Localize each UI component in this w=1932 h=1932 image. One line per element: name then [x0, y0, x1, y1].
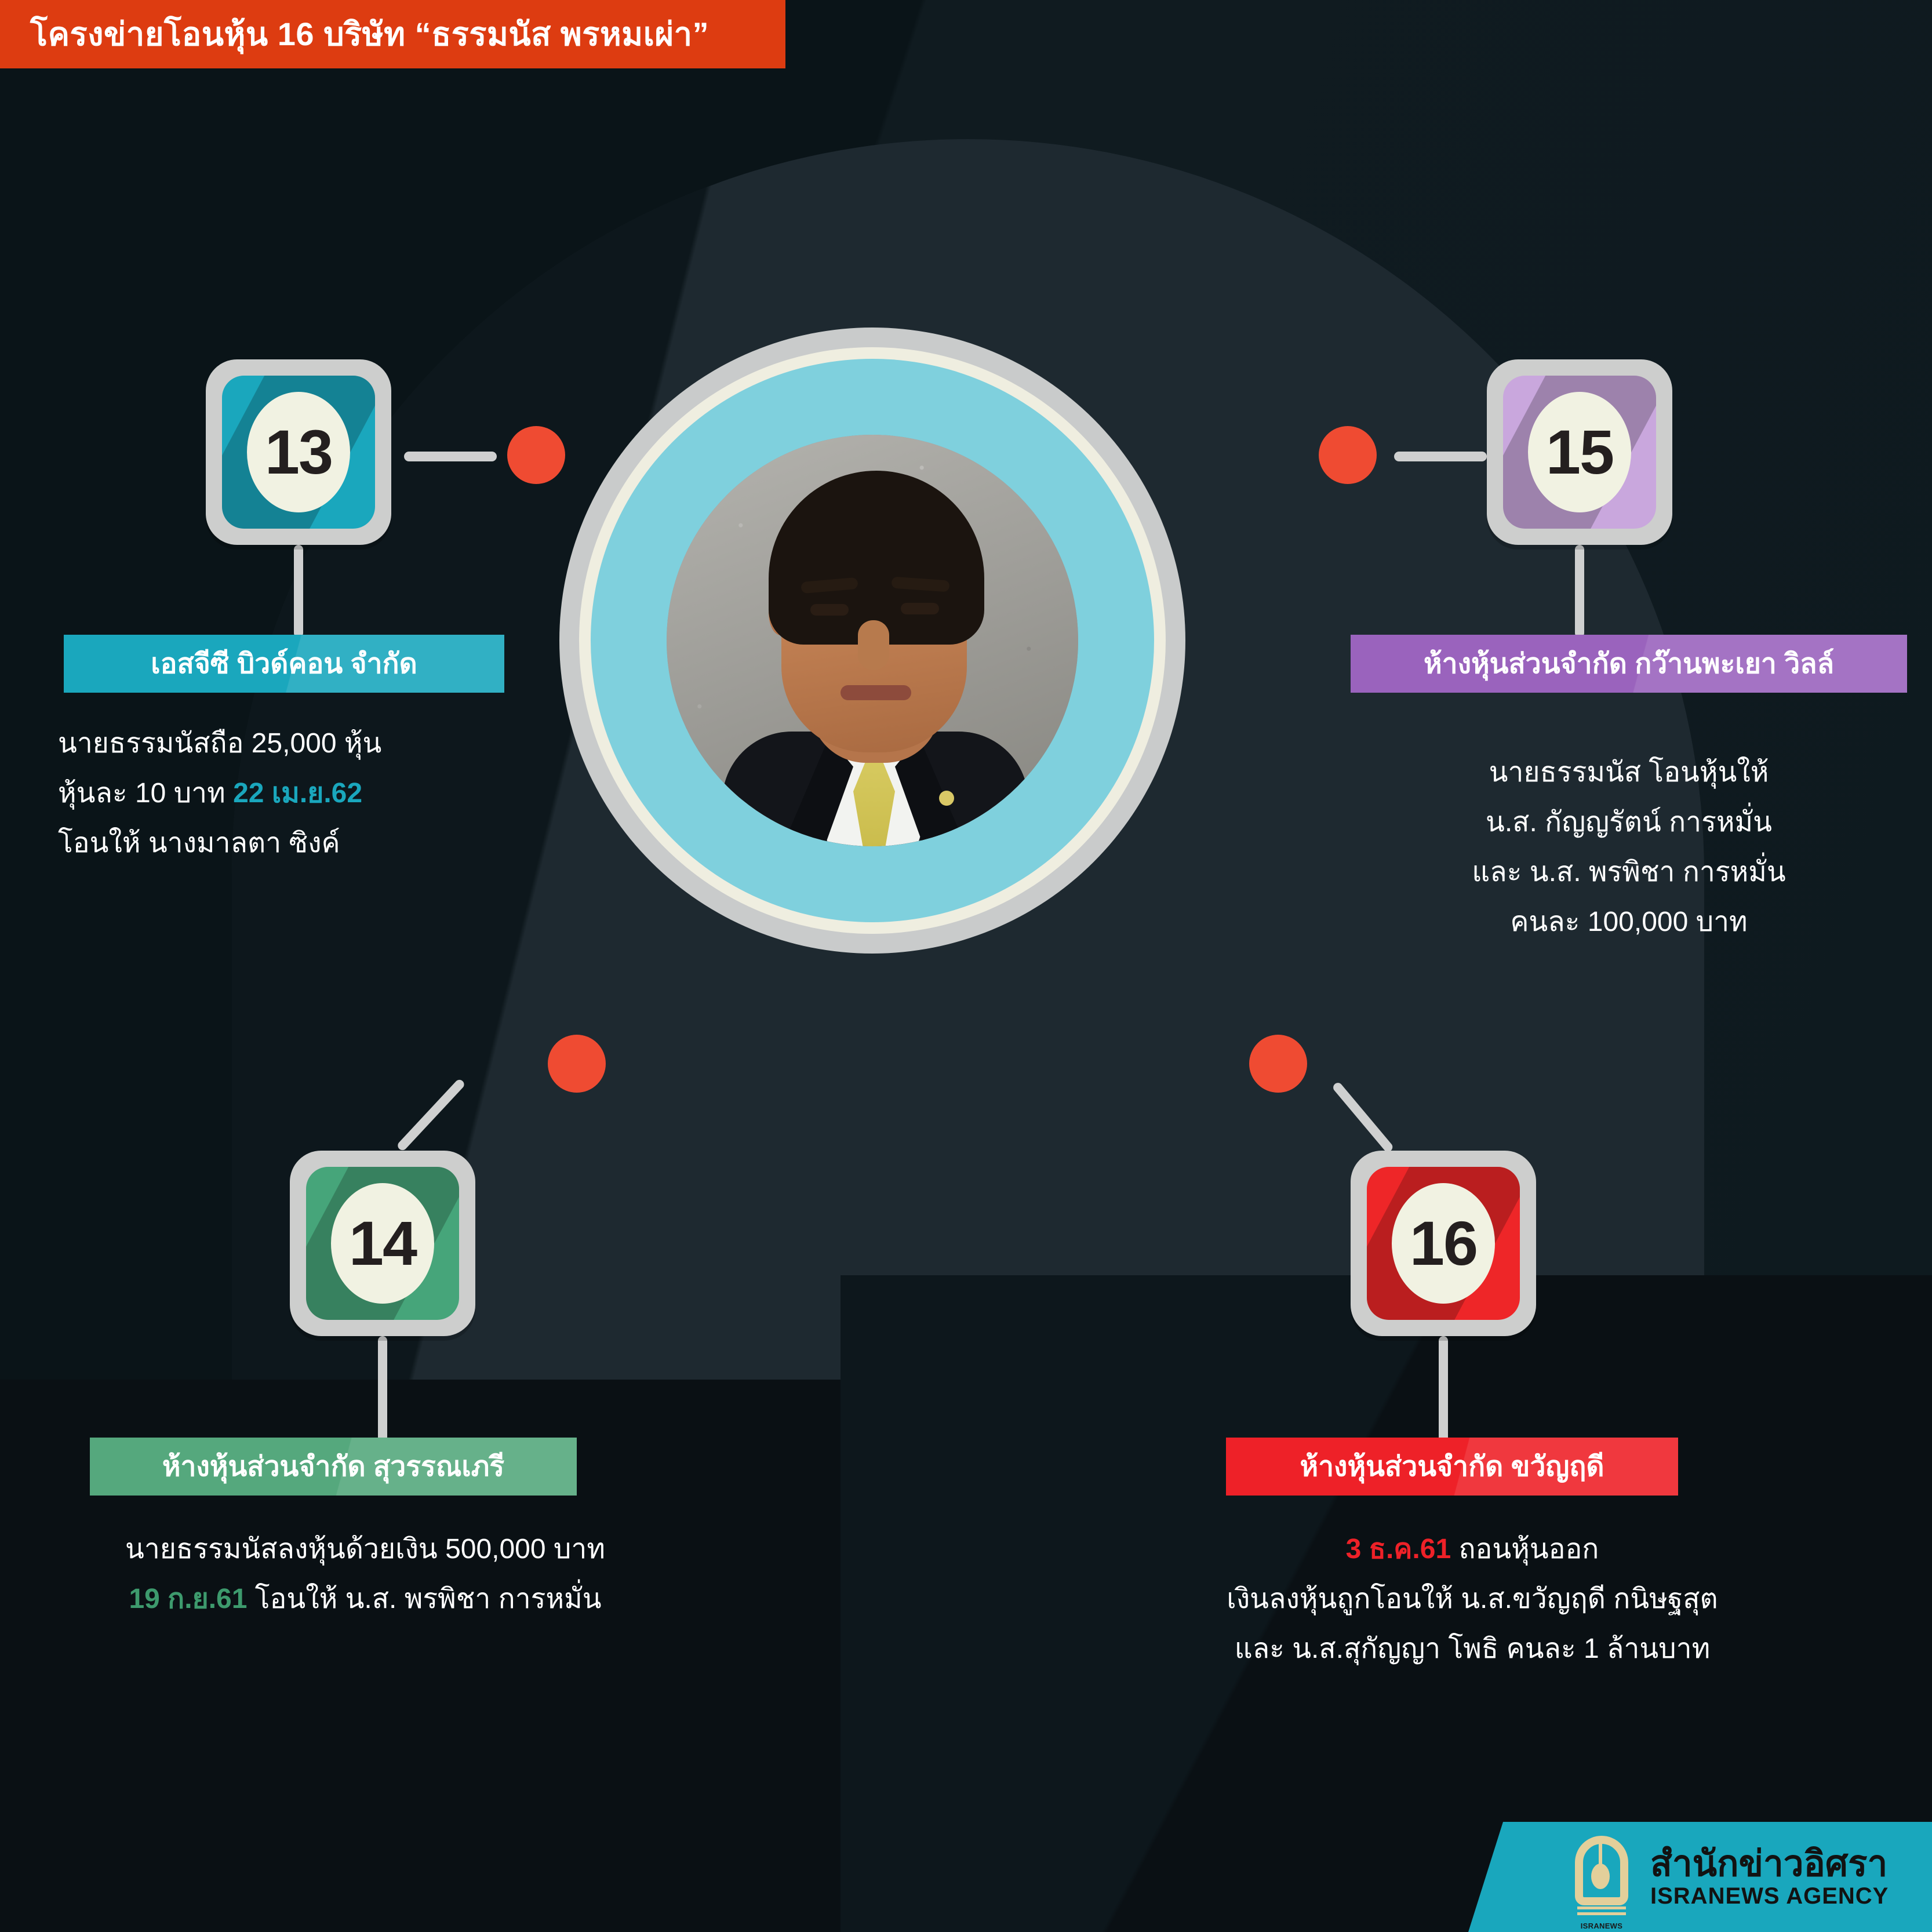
pen-nib-rule-2: [1577, 1912, 1626, 1915]
infographic-canvas: โครงข่ายโอนหุ้น 16 บริษัท “ธรรมนัส พรหมเ…: [0, 0, 1932, 1932]
company-name-15: ห้างหุ้นส่วนจำกัด กว๊านพะเยา วิลล์: [1424, 642, 1834, 686]
node-description-16: 3 ธ.ค.61 ถอนหุ้นออก เงินลงหุ้นถูกโอนให้ …: [1130, 1525, 1814, 1674]
node-card-14-badge: 14: [331, 1183, 434, 1304]
company-label-13: เอสจีซี บิวด์คอน จำกัด: [64, 635, 504, 693]
node-card-13[interactable]: 13: [206, 359, 391, 545]
connector-dot-13: [507, 426, 565, 484]
company-name-13: เอสจีซี บิวด์คอน จำกัด: [151, 642, 417, 686]
node-description-16-line-3: และ น.ส.สุกัญญา โพธิ คนละ 1 ล้านบาท: [1130, 1624, 1814, 1674]
node-description-16-line-1: 3 ธ.ค.61 ถอนหุ้นออก: [1130, 1525, 1814, 1574]
company-label-15: ห้างหุ้นส่วนจำกัด กว๊านพะเยา วิลล์: [1351, 635, 1907, 693]
node-card-13-badge: 13: [247, 392, 350, 512]
node-description-15-line-1: นายธรรมนัส โอนหุ้นให้: [1333, 748, 1924, 798]
connector-dot-16: [1249, 1035, 1307, 1093]
node-card-16-face: 16: [1367, 1167, 1520, 1320]
center-portrait: [559, 328, 1185, 954]
connector-dot-15: [1319, 426, 1377, 484]
portrait-eye-left: [810, 604, 849, 616]
node-card-16[interactable]: 16: [1351, 1151, 1536, 1336]
portrait-eye-right: [901, 603, 939, 614]
node-description-16-line-2: เงินลงหุ้นถูกโอนให้ น.ส.ขวัญฤดี กนิษฐสุต: [1130, 1574, 1814, 1624]
brand-name-english: ISRANEWS AGENCY: [1650, 1883, 1889, 1909]
node-card-14-face: 14: [306, 1167, 459, 1320]
node-card-15-face: 15: [1503, 376, 1656, 529]
node-description-14-line-2: 19 ก.ย.61 โอนให้ น.ส. พรพิชา การหมั่น: [23, 1574, 707, 1624]
pen-nib-rule-1: [1577, 1906, 1626, 1909]
pen-nib-ball: [1591, 1864, 1610, 1889]
node-description-15-line-3: และ น.ส. พรพิชา การหมั่น: [1333, 847, 1924, 897]
node-desc-16-l1-post: ถอนหุ้นออก: [1451, 1534, 1599, 1564]
portrait-mouth: [841, 685, 911, 700]
company-label-16: ห้างหุ้นส่วนจำกัด ขวัญฤดี: [1226, 1438, 1678, 1496]
node-description-15-line-2: น.ส. กัญญรัตน์ การหมั่น: [1333, 798, 1924, 847]
portrait-lapel-pin: [939, 791, 954, 806]
node-card-16-badge: 16: [1392, 1183, 1495, 1304]
footer-brand[interactable]: ISRANEWS AGENCY สำนักข่าวอิศรา สำนักข่าว…: [1433, 1822, 1932, 1932]
node-number-15: 15: [1546, 421, 1613, 483]
portrait-nose: [858, 620, 889, 670]
node-card-15[interactable]: 15: [1487, 359, 1672, 545]
node-description-13-line-1: นายธรรมนัสถือ 25,000 หุ้น: [58, 719, 545, 769]
connector-line-13-vertical: [294, 545, 303, 638]
connector-line-14-vertical: [378, 1336, 387, 1452]
connector-line-13-horizontal: [404, 452, 497, 461]
node-card-15-badge: 15: [1528, 392, 1631, 512]
node-description-15-line-4: คนละ 100,000 บาท: [1333, 897, 1924, 947]
node-number-14: 14: [349, 1212, 416, 1275]
connector-dot-14: [548, 1035, 606, 1093]
node-desc-13-l2-pre: หุ้นละ 10 บาท: [58, 778, 233, 809]
portrait-photo: [667, 435, 1078, 846]
node-description-13-line-2: หุ้นละ 10 บาท 22 เม.ย.62: [58, 769, 545, 818]
connector-line-16-vertical: [1439, 1336, 1448, 1452]
footer-brand-text: สำนักข่าวอิศรา ISRANEWS AGENCY: [1650, 1845, 1889, 1908]
node-number-16: 16: [1410, 1212, 1477, 1275]
node-description-13: นายธรรมนัสถือ 25,000 หุ้น หุ้นละ 10 บาท …: [35, 719, 545, 868]
node-description-14-line-1: นายธรรมนัสลงหุ้นด้วยเงิน 500,000 บาท: [23, 1525, 707, 1574]
company-label-14: ห้างหุ้นส่วนจำกัด สุวรรณเภรี: [90, 1438, 577, 1496]
node-description-13-line-3: โอนให้ นางมาลตา ซิงค์: [58, 818, 545, 868]
page-title: โครงข่ายโอนหุ้น 16 บริษัท “ธรรมนัส พรหมเ…: [0, 0, 709, 68]
connector-line-15-horizontal: [1394, 452, 1487, 461]
header-bar: โครงข่ายโอนหุ้น 16 บริษัท “ธรรมนัส พรหมเ…: [0, 0, 785, 68]
connector-line-15-vertical: [1575, 545, 1584, 638]
node-description-14: นายธรรมนัสลงหุ้นด้วยเงิน 500,000 บาท 19 …: [23, 1525, 707, 1624]
node-number-13: 13: [265, 421, 332, 483]
node-date-13: 22 เม.ย.62: [233, 778, 362, 809]
company-name-14: ห้างหุ้นส่วนจำกัด สุวรรณเภรี: [162, 1445, 504, 1489]
node-card-14[interactable]: 14: [290, 1151, 475, 1336]
pen-nib-icon: ISRANEWS AGENCY สำนักข่าวอิศรา: [1567, 1833, 1636, 1920]
node-date-14: 19 ก.ย.61: [129, 1584, 247, 1614]
node-date-16: 3 ธ.ค.61: [1346, 1534, 1451, 1564]
company-name-16: ห้างหุ้นส่วนจำกัด ขวัญฤดี: [1300, 1445, 1604, 1489]
node-desc-14-l2-post: โอนให้ น.ส. พรพิชา การหมั่น: [247, 1584, 601, 1614]
node-card-13-face: 13: [222, 376, 375, 529]
brand-name-thai: สำนักข่าวอิศรา: [1650, 1845, 1889, 1883]
node-description-15: นายธรรมนัส โอนหุ้นให้ น.ส. กัญญรัตน์ การ…: [1333, 748, 1924, 947]
